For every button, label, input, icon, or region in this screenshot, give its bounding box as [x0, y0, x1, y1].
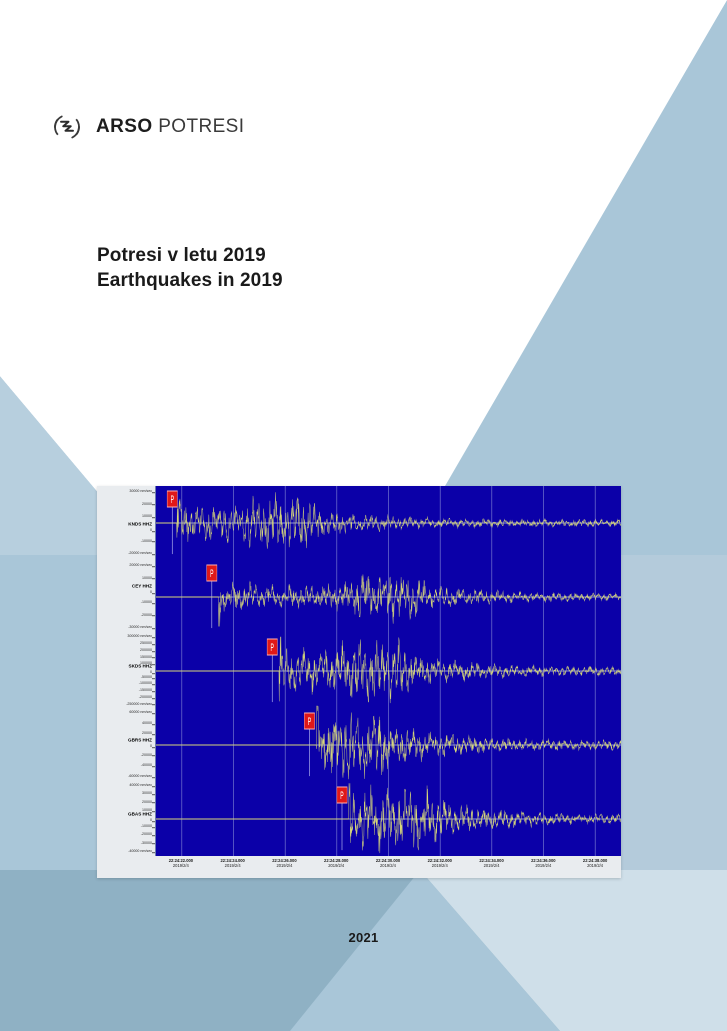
y-tick-label: 150000: [140, 656, 152, 660]
x-tick-date: 2019/2/4: [531, 863, 555, 868]
y-tick-label: -20000: [141, 614, 152, 618]
cover-page: ARSO POTRESI Potresi v letu 2019 Earthqu…: [0, 0, 727, 1031]
y-tick-label: -10000: [141, 825, 152, 829]
x-tick-label: 22:24:28.0002019/2/4: [324, 858, 348, 868]
publication-year: 2021: [0, 930, 727, 945]
x-tick-date: 2019/2/4: [220, 863, 244, 868]
x-axis: 22:24:22.0002019/2/422:24:24.0002019/2/4…: [97, 856, 621, 878]
y-tick-label: 40000 nm/sec: [129, 784, 152, 788]
y-tick-label: -200000: [139, 696, 152, 700]
x-tick-label: 22:24:38.0002019/2/4: [583, 858, 607, 868]
y-tick-label: 60000 nm/sec: [129, 711, 152, 715]
station-label-gbas: GBAS HHZ: [128, 813, 152, 818]
y-tick-label: 0: [150, 591, 152, 595]
y-tick-label: 20000 nm/sec: [129, 564, 152, 568]
pick-marker-label: P: [210, 567, 214, 580]
y-tick-label: 200000: [140, 649, 152, 653]
y-tick-label: -30000 nm/sec: [128, 626, 152, 630]
station-label-cey: CEY HHZ: [132, 585, 152, 590]
y-axis-band: 20000 nm/sec10000CEY HHZ0-10000-20000-30…: [97, 560, 155, 634]
x-tick-date: 2019/2/4: [169, 863, 193, 868]
pick-marker-label: P: [271, 641, 275, 654]
y-axis-band: 30000 nm/sec2000010000KNDS HHZ0-10000-20…: [97, 486, 155, 560]
y-tick-label: 0: [150, 819, 152, 823]
y-tick-label: -60000 nm/sec: [128, 775, 152, 779]
x-tick-date: 2019/2/4: [479, 863, 503, 868]
x-tick-label: 22:24:36.0002019/2/4: [531, 858, 555, 868]
y-tick-label: -10000: [141, 601, 152, 605]
y-tick-label: -20000: [141, 754, 152, 758]
y-tick-label: -100000: [139, 683, 152, 687]
x-axis-spacer: [97, 856, 155, 878]
x-tick-label: 22:24:22.0002019/2/4: [169, 858, 193, 868]
arso-seismic-logo-icon: [52, 112, 82, 142]
y-axis-band: 40000 nm/sec300002000010000GBAS HHZ0-100…: [97, 782, 155, 856]
y-tick-label: 0: [150, 530, 152, 534]
y-tick-label: -10000: [141, 540, 152, 544]
page-title: Potresi v letu 2019 Earthquakes in 2019: [97, 243, 283, 293]
x-tick-label: 22:24:32.0002019/2/4: [428, 858, 452, 868]
y-tick-label: -30000: [141, 842, 152, 846]
title-slovenian: Potresi v letu 2019: [97, 243, 283, 268]
x-tick-label: 22:24:30.0002019/2/4: [376, 858, 400, 868]
brand-logo: ARSO POTRESI: [52, 112, 244, 142]
seismogram-plot-area: PPPPP: [155, 486, 621, 856]
y-tick-label: 250000: [140, 642, 152, 646]
y-tick-label: -20000 nm/sec: [128, 552, 152, 556]
y-tick-label: 30000: [142, 793, 152, 797]
station-label-gbrs: GBRS HHZ: [128, 739, 152, 744]
y-tick-label: -40000: [141, 764, 152, 768]
seismogram-traces: PPPPP: [156, 486, 621, 856]
x-tick-date: 2019/2/4: [272, 863, 296, 868]
x-tick-date: 2019/2/4: [583, 863, 607, 868]
y-tick-label: 300000 nm/sec: [127, 636, 152, 640]
brand-potresi: POTRESI: [158, 116, 244, 137]
seismogram-body: 30000 nm/sec2000010000KNDS HHZ0-10000-20…: [97, 486, 621, 856]
y-tick-label: -150000: [139, 689, 152, 693]
y-axis-column: 30000 nm/sec2000010000KNDS HHZ0-10000-20…: [97, 486, 155, 856]
pick-marker-label: P: [171, 493, 175, 506]
station-label-skds: SKDS HHZ: [129, 665, 152, 670]
y-tick-label: 0: [150, 745, 152, 749]
y-tick-label: -250000 nm/sec: [126, 703, 152, 707]
y-tick-label: 10000: [142, 577, 152, 581]
x-tick-label: 22:24:34.0002019/2/4: [479, 858, 503, 868]
y-tick-label: -20000: [141, 834, 152, 838]
y-tick-label: 30000 nm/sec: [129, 490, 152, 494]
station-label-knds: KNDS HHZ: [128, 523, 152, 528]
x-tick-date: 2019/2/4: [324, 863, 348, 868]
y-tick-label: -50000: [141, 676, 152, 680]
y-tick-label: 40000: [142, 722, 152, 726]
x-tick-label: 22:24:26.0002019/2/4: [272, 858, 296, 868]
y-axis-band: 60000 nm/sec4000020000GBRS HHZ0-20000-40…: [97, 708, 155, 782]
x-axis-tick-labels: 22:24:22.0002019/2/422:24:24.0002019/2/4…: [155, 856, 621, 878]
title-english: Earthquakes in 2019: [97, 268, 283, 293]
y-tick-label: 10000: [142, 515, 152, 519]
seismogram-figure: 30000 nm/sec2000010000KNDS HHZ0-10000-20…: [97, 486, 621, 878]
pick-marker-label: P: [340, 789, 344, 802]
x-tick-date: 2019/2/4: [428, 863, 452, 868]
y-tick-label: 20000: [142, 801, 152, 805]
brand-arso: ARSO: [96, 116, 153, 137]
x-tick-date: 2019/2/4: [376, 863, 400, 868]
y-tick-label: -40000 nm/sec: [128, 850, 152, 854]
pick-marker-label: P: [308, 715, 312, 728]
y-axis-band: 300000 nm/sec250000200000150000100000SKD…: [97, 634, 155, 708]
y-tick-label: 20000: [142, 733, 152, 737]
y-tick-label: 20000: [142, 503, 152, 507]
brand-wordmark: ARSO POTRESI: [96, 116, 244, 138]
x-tick-label: 22:24:24.0002019/2/4: [220, 858, 244, 868]
